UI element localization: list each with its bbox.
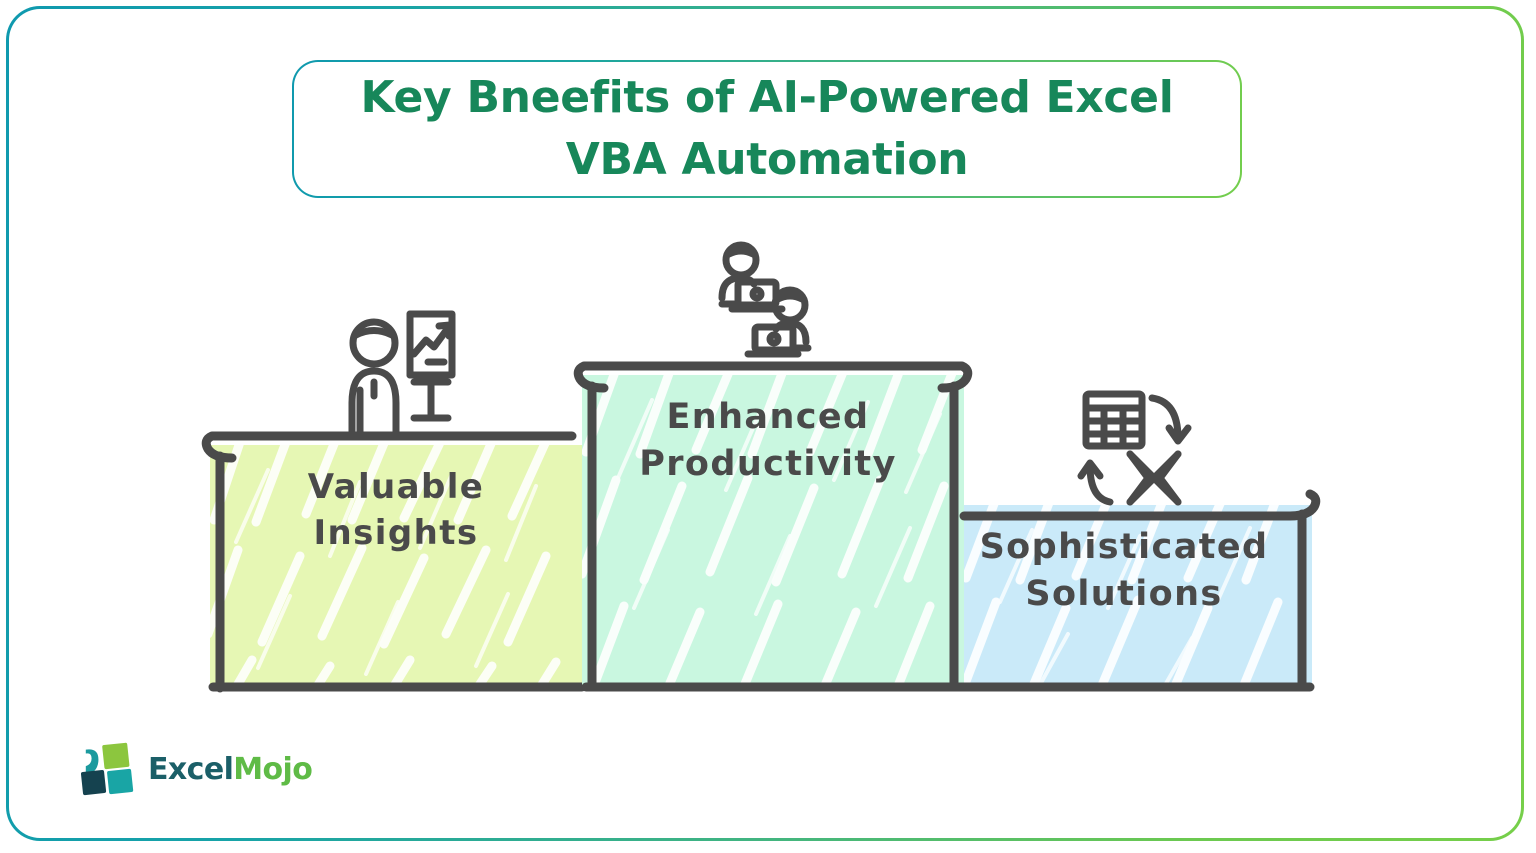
title-box: Key Bneefits of AI-Powered Excel VBA Aut… (292, 60, 1242, 198)
block-sophisticated-solutions: Sophisticated Solutions (962, 482, 1316, 698)
block-c-label-line2: Solutions (1025, 574, 1222, 614)
infographic-canvas: Key Bneefits of AI-Powered Excel VBA Aut… (0, 0, 1536, 853)
excelmojo-wordmark: ExcelMojo (148, 752, 312, 787)
excelmojo-logo-mark (80, 740, 138, 798)
block-b-label-line1: Enhanced (666, 397, 869, 437)
spreadsheet-excel-convert-icon (1081, 394, 1188, 502)
logo-text-excel: Excel (148, 752, 233, 787)
block-a-label-line2: Insights (314, 513, 479, 553)
podium-chart: Valuable Insights (0, 230, 1536, 730)
title-box-inner: Key Bneefits of AI-Powered Excel VBA Aut… (294, 62, 1240, 196)
block-valuable-insights: Valuable Insights (206, 423, 582, 726)
presenter-chart-icon (352, 314, 452, 435)
two-people-laptops-icon (722, 245, 808, 354)
block-enhanced-productivity: Enhanced Productivity (578, 352, 968, 702)
logo-text-mojo: Mojo (233, 752, 312, 787)
excelmojo-logo[interactable]: ExcelMojo (80, 733, 280, 805)
block-a-label-line1: Valuable (308, 467, 484, 507)
block-c-label-line1: Sophisticated (980, 527, 1269, 567)
page-title: Key Bneefits of AI-Powered Excel VBA Aut… (336, 67, 1197, 192)
block-b-label-line2: Productivity (639, 444, 897, 484)
